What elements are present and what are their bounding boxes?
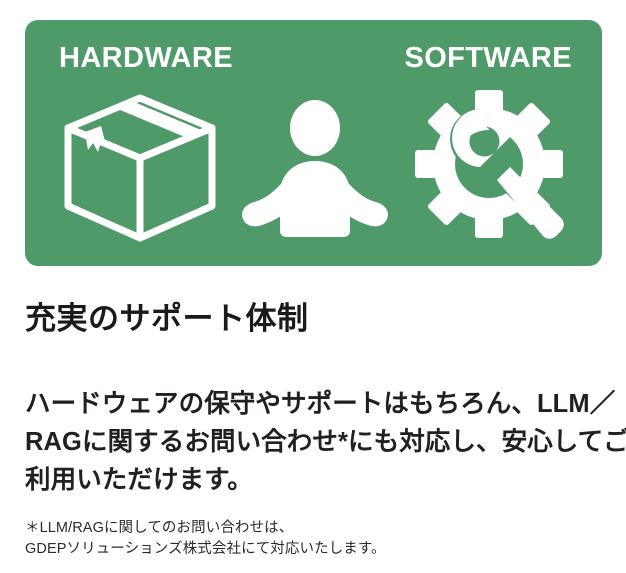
support-hero-card: HARDWARE SOFTWARE: [25, 20, 602, 266]
body-copy: ハードウェアの保守やサポートはもちろん、LLM／ RAGに関するお問い合わせ*に…: [25, 385, 600, 499]
person-open-arms-icon: [230, 74, 400, 266]
software-label: SOFTWARE: [404, 44, 572, 73]
gear-wrench-icon: [400, 74, 590, 266]
page-title: 充実のサポート体制: [25, 300, 309, 339]
footnote-line: GDEPソリューションズ株式会社にて対応いたします。: [25, 539, 600, 560]
footnote: ＊LLM/RAGに関してのお問い合わせは、 GDEPソリューションズ株式会社にて…: [25, 518, 600, 560]
hero-icon-row: [25, 74, 602, 266]
body-line: RAGに関するお問い合わせ*にも対応し、安心してご: [25, 423, 600, 461]
body-line: 利用いただけます。: [25, 461, 600, 499]
body-line: ハードウェアの保守やサポートはもちろん、LLM／: [25, 385, 600, 423]
footnote-line: ＊LLM/RAGに関してのお問い合わせは、: [25, 518, 600, 539]
hardware-label: HARDWARE: [59, 44, 233, 73]
cardboard-box-icon: [45, 74, 235, 266]
